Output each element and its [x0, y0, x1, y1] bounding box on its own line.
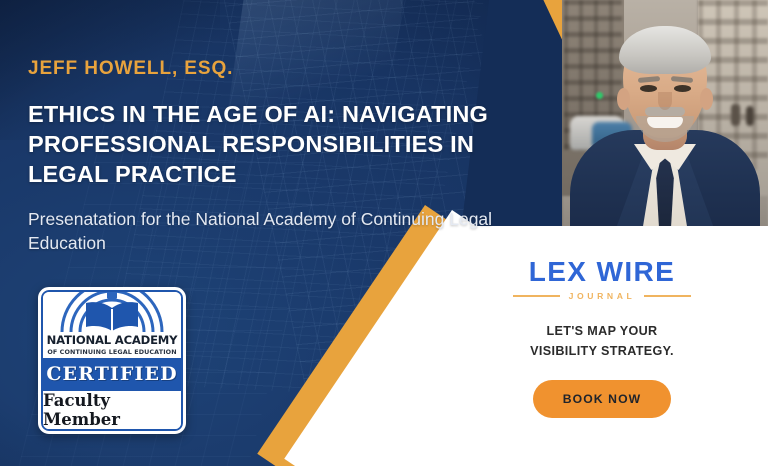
badge-role: Faculty Member [43, 391, 181, 429]
badge-emblem [43, 292, 181, 332]
photo-pedestrian-a [731, 104, 740, 126]
subtitle: Presenatation for the National Academy o… [28, 207, 498, 257]
photo-pedestrian-b [746, 106, 754, 126]
brand-subtitle-row: JOURNAL [436, 291, 768, 301]
photo-eye-right [674, 85, 691, 92]
cta-wrapper: BOOK NOW [436, 380, 768, 418]
promo-content: LEX WIRE JOURNAL LET'S MAP YOUR VISIBILI… [436, 226, 768, 466]
speaker-photo [562, 0, 768, 242]
page-title: ETHICS IN THE AGE OF AI: NAVIGATING PROF… [28, 100, 528, 190]
brand-subtitle: JOURNAL [569, 291, 636, 301]
badge-org-line1: NATIONAL ACADEMY [45, 333, 179, 347]
photo-traffic-light [596, 92, 603, 99]
photo-eye-left [640, 85, 657, 92]
badge-status: CERTIFIED [43, 358, 181, 391]
promo-tagline-line2: VISIBILITY STRATEGY. [436, 342, 768, 362]
photo-nose [658, 92, 672, 110]
photo-ear-left [617, 88, 630, 110]
speaker-name: JEFF HOWELL, ESQ. [28, 58, 528, 80]
rule-right-icon [644, 295, 691, 297]
badge-org-line2: OF CONTINUING LEGAL EDUCATION [45, 348, 179, 356]
open-book-icon [56, 290, 168, 332]
presentation-banner: JEFF HOWELL, ESQ. ETHICS IN THE AGE OF A… [0, 0, 768, 466]
badge-organization: NATIONAL ACADEMY OF CONTINUING LEGAL EDU… [43, 332, 181, 358]
photo-ear-right [700, 88, 713, 110]
book-now-button[interactable]: BOOK NOW [533, 380, 672, 418]
promo-tagline: LET'S MAP YOUR VISIBILITY STRATEGY. [436, 322, 768, 361]
lex-wire-logo: LEX WIRE JOURNAL [436, 256, 768, 301]
promo-tagline-line1: LET'S MAP YOUR [436, 322, 768, 342]
brand-name: LEX WIRE [436, 256, 768, 288]
banner-content: JEFF HOWELL, ESQ. ETHICS IN THE AGE OF A… [28, 0, 528, 256]
certification-badge: NATIONAL ACADEMY OF CONTINUING LEGAL EDU… [38, 287, 186, 434]
rule-left-icon [513, 295, 560, 297]
certification-badge-inner: NATIONAL ACADEMY OF CONTINUING LEGAL EDU… [41, 290, 183, 431]
photo-smile [647, 117, 683, 128]
